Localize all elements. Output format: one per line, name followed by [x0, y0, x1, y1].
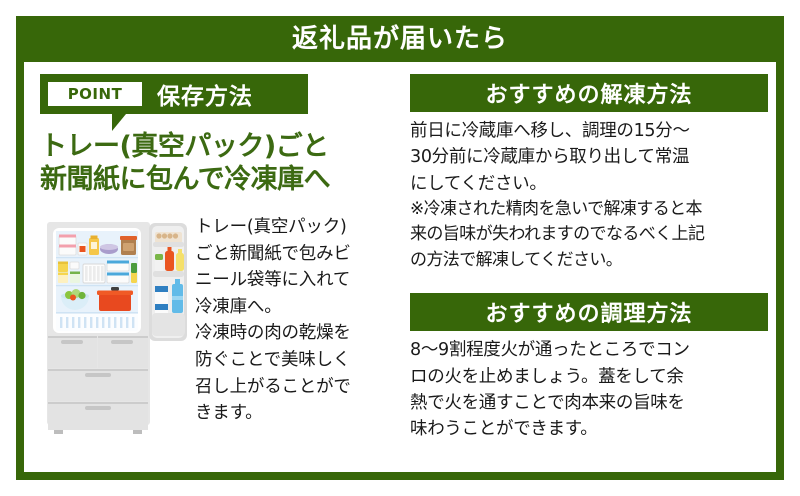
storage-lead-text: トレー(真空パック)ごと 新聞紙に包んで冷凍庫へ — [40, 130, 390, 197]
point-badge: POINT — [47, 81, 143, 107]
bubble-tail — [112, 114, 126, 131]
thaw-method-header: おすすめの解凍方法 — [410, 74, 768, 112]
left-column: POINT 保存方法 トレー(真空パック)ごと 新聞紙に包んで冷凍庫へ — [40, 74, 390, 464]
right-column: おすすめの解凍方法 前日に冷蔵庫へ移し、調理の15分～ 30分前に冷蔵庫から取り… — [410, 74, 770, 442]
thaw-method-body: 前日に冷蔵庫へ移し、調理の15分～ 30分前に冷蔵庫から取り出して常温 にしてく… — [410, 118, 768, 197]
cooking-method-header: おすすめの調理方法 — [410, 293, 768, 331]
cooking-method-body: 8～9割程度火が通ったところでコン ロの火を止めましょう。蓋をして余 熱で火を通… — [410, 337, 768, 442]
thaw-method-title: おすすめの解凍方法 — [485, 77, 692, 109]
point-badge-label: POINT — [68, 85, 123, 103]
cooking-method-title: おすすめの調理方法 — [485, 296, 692, 328]
storage-method-bubble: POINT 保存方法 — [40, 74, 308, 114]
poster-root: 返礼品が届いたら POINT 保存方法 トレー(真空パック)ごと 新聞紙に包んで… — [0, 0, 800, 496]
page-title: 返礼品が届いたら — [292, 26, 508, 52]
refrigerator-illustration — [45, 216, 195, 438]
storage-method-title: 保存方法 — [157, 77, 253, 111]
storage-body-text: トレー(真空パック) ごと新聞紙で包みビ ニール袋等に入れて 冷凍庫へ。 冷凍時… — [195, 214, 391, 427]
thaw-method-note: ※冷凍された精肉を急いで解凍すると本 来の旨味が失われますのでなるべく上記 の方… — [410, 197, 768, 274]
header-bar: 返礼品が届いたら — [16, 16, 784, 62]
